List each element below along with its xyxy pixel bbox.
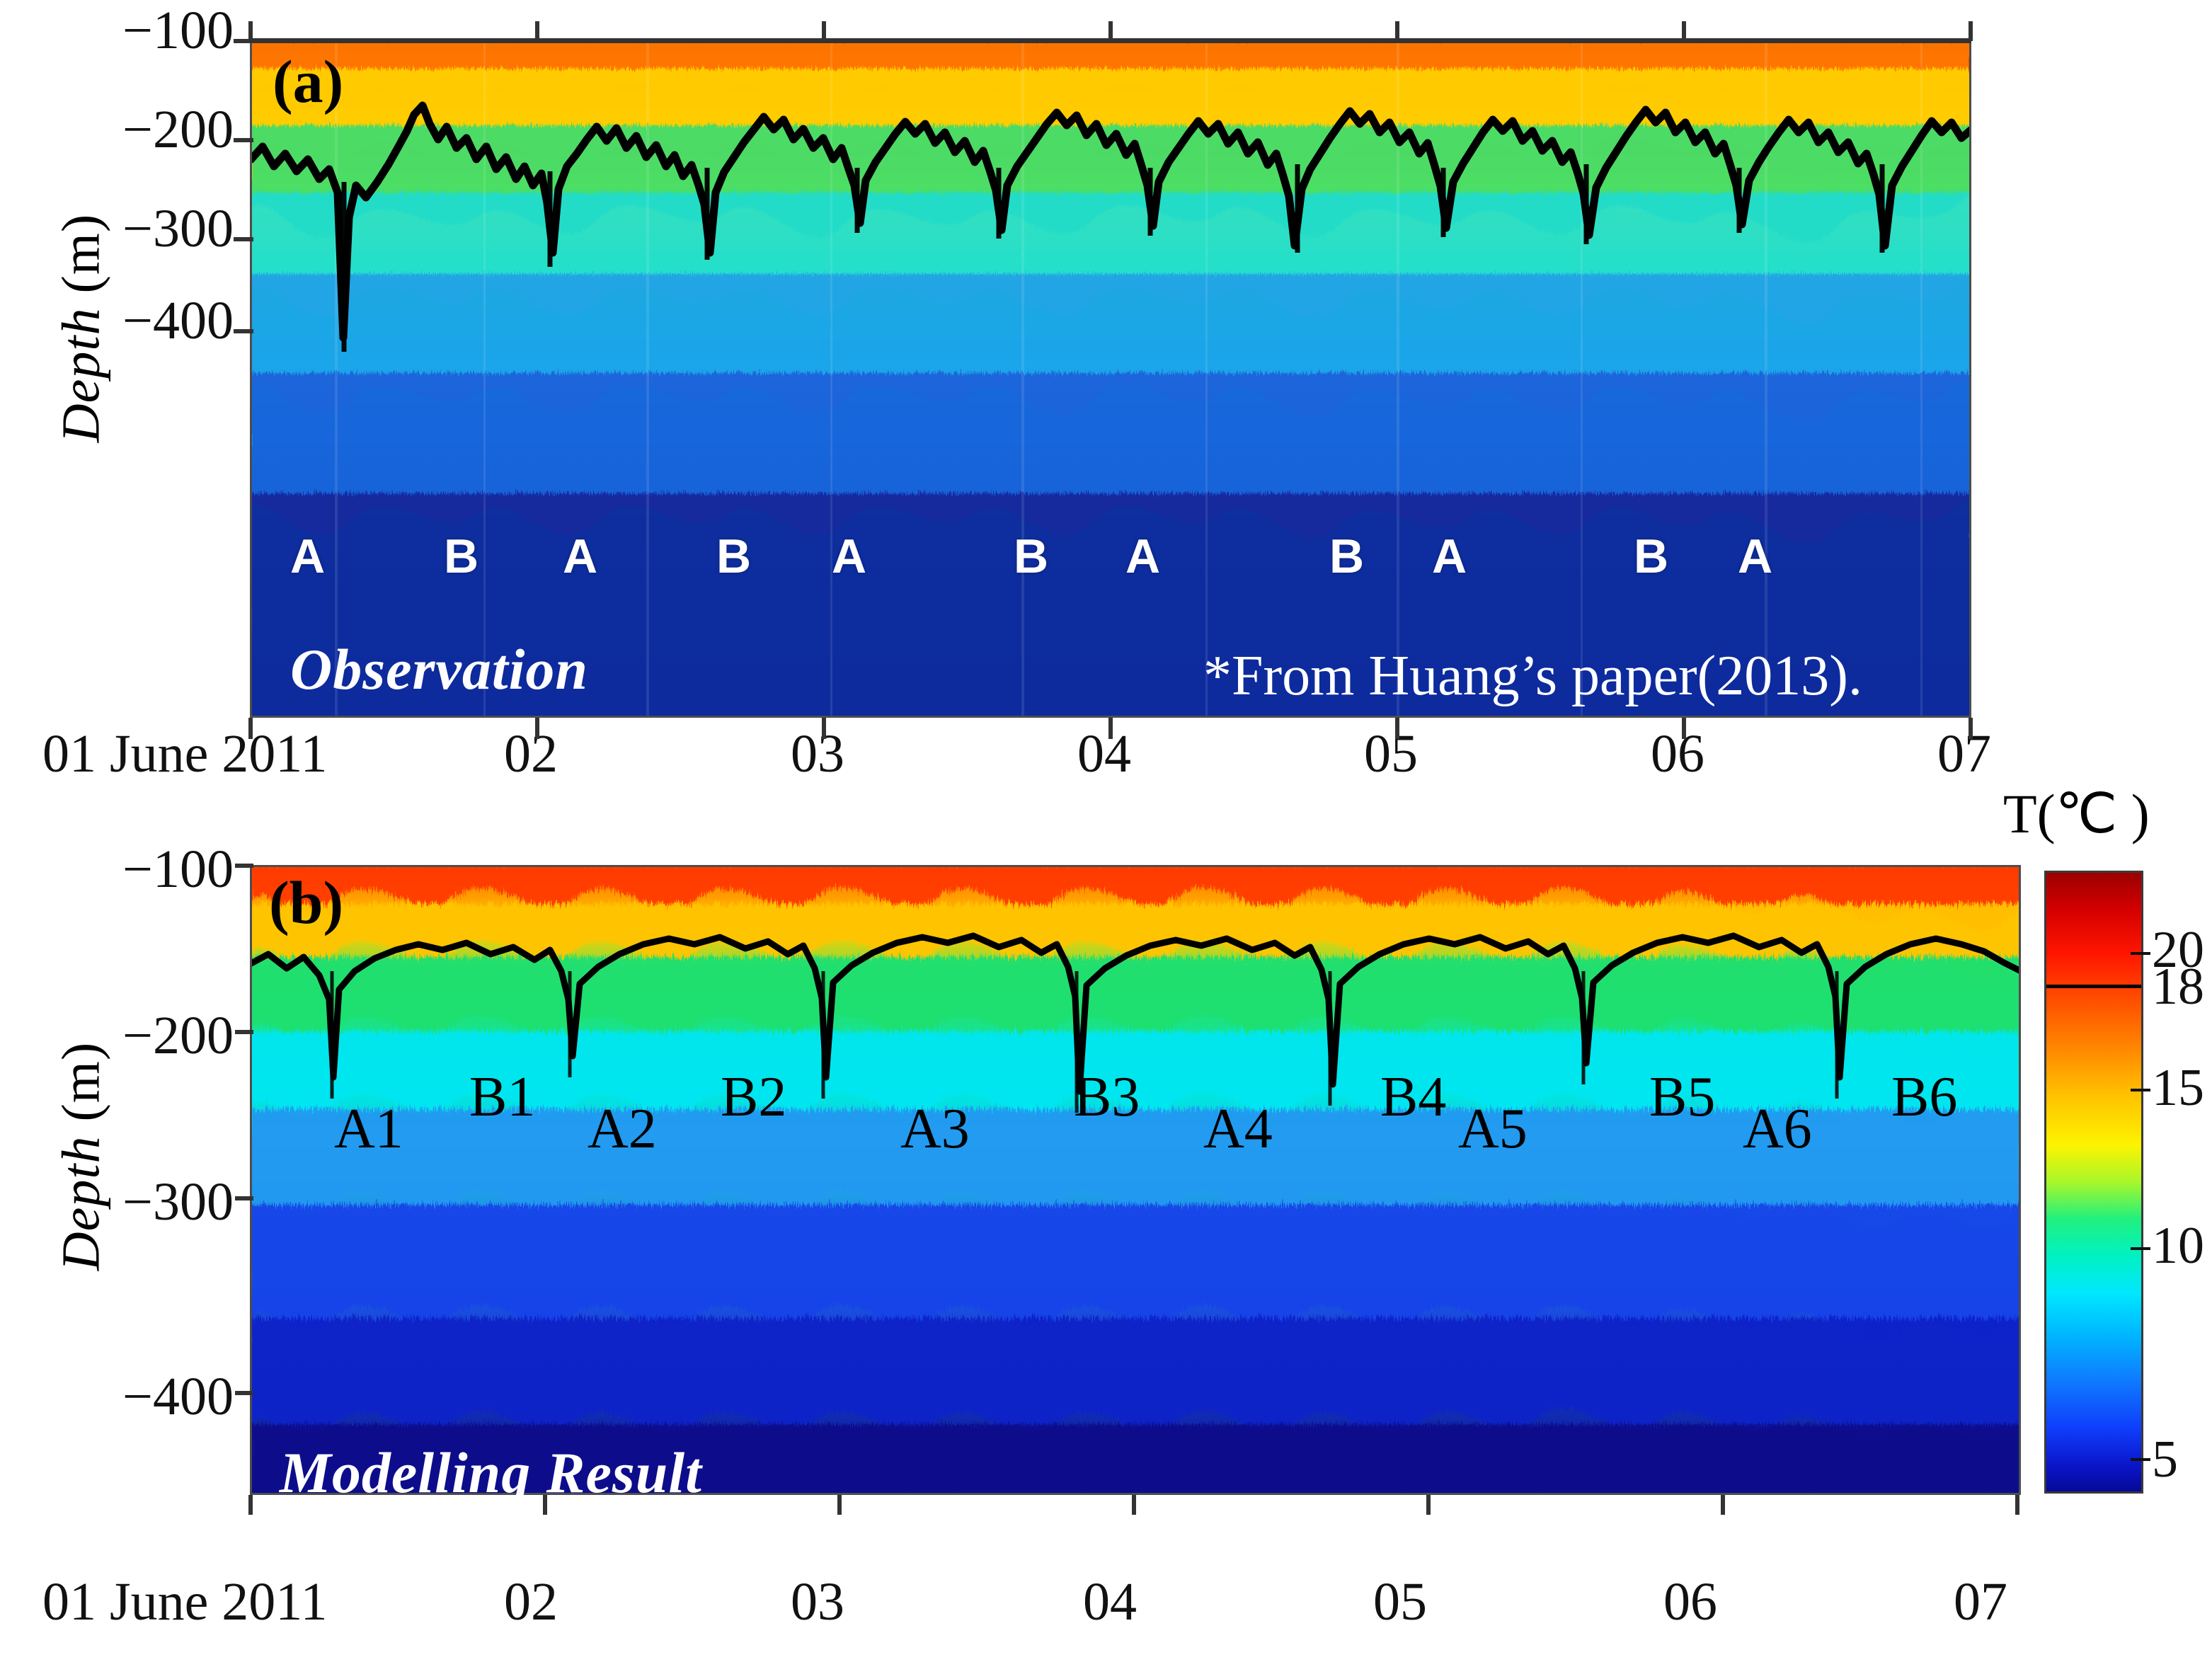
panel-b-xtick-0: 01 June 2011	[42, 1571, 328, 1633]
panel-b-event-label-a2: A2	[588, 1101, 657, 1157]
panel-a-xtick-2: 03	[791, 723, 844, 785]
panel-a-xtick-1: 02	[504, 723, 558, 785]
panel-a-bottom-tick-3	[1108, 718, 1113, 739]
colorbar-gradient	[2046, 873, 2141, 1491]
panel-b-bottom-tick-5	[1721, 1495, 1725, 1515]
panel-a-xtick-4: 05	[1364, 723, 1418, 785]
panel-b-xtick-3: 04	[1083, 1571, 1137, 1633]
panel-a-event-label-4: A	[832, 532, 866, 580]
figure-root: Depth (m) −100 −200 −300 −400	[0, 0, 2212, 1662]
panel-a-event-label-7: B	[1329, 532, 1364, 580]
panel-b-event-label-b6: B6	[1891, 1069, 1957, 1125]
panel-a-caption: Observation	[290, 641, 588, 699]
panel-b-ytick-100: −100	[21, 839, 234, 900]
panel-b-event-label-b5: B5	[1649, 1069, 1715, 1125]
colorbar-tick-mark-10	[2131, 1247, 2150, 1250]
panel-b-bottom-tick-6	[2015, 1495, 2019, 1515]
colorbar-tick-mark-20	[2131, 952, 2150, 955]
panel-a-bottom-tick-1	[535, 718, 539, 739]
panel-a-event-label-3: B	[716, 532, 751, 580]
panel-a-event-label-5: B	[1014, 532, 1048, 580]
panel-b-xtick-6: 07	[1954, 1571, 2007, 1633]
panel-a-event-label-2: A	[563, 532, 597, 580]
panel-a-ytick-mark-1	[234, 138, 253, 142]
panel-b-event-label-a4: A4	[1203, 1101, 1273, 1157]
panel-a-plot-area	[250, 40, 1971, 718]
panel-b-xtick-2: 03	[791, 1571, 844, 1633]
panel-b-ytick-200: −200	[21, 1005, 234, 1067]
panel-b-event-label-a3: A3	[900, 1101, 970, 1157]
colorbar-title: T(℃ )	[2003, 782, 2150, 846]
colorbar-label-18: 18	[2152, 957, 2204, 1017]
panel-a-bottom-tick-4	[1395, 718, 1399, 739]
panel-a-ytick-300: −300	[21, 198, 234, 260]
panel-b-ytick-300: −300	[21, 1171, 234, 1233]
panel-b-xtick-5: 06	[1663, 1571, 1717, 1633]
panel-b-xtick-4: 05	[1373, 1571, 1427, 1633]
panel-a-bottom-tick-6	[1969, 718, 1973, 739]
panel-a-top-tick-1	[535, 21, 539, 41]
panel-a-top-tick-5	[1682, 21, 1686, 41]
panel-a-event-label-0: A	[290, 532, 325, 580]
panel-b-event-label-a1: A1	[334, 1101, 403, 1157]
panel-b-caption: Modelling Result	[280, 1444, 702, 1502]
panel-b-plot-area	[250, 865, 2021, 1495]
panel-b-ytick-400: −400	[21, 1366, 234, 1428]
panel-b-ytick-mark-1	[235, 1030, 253, 1034]
panel-a-contour-svg	[250, 40, 1971, 718]
panel-a-top-tick-6	[1969, 21, 1973, 41]
panel-a-source-note: *From Huang’s paper(2013).	[1203, 648, 1862, 704]
panel-a-event-label-1: B	[444, 532, 478, 580]
colorbar-label-5: 5	[2152, 1430, 2178, 1490]
panel-a-ytick-mark-3	[234, 329, 253, 333]
colorbar-label-15: 15	[2152, 1058, 2204, 1118]
panel-b-ytick-mark-2	[235, 1196, 253, 1200]
panel-a-event-label-6: A	[1125, 532, 1160, 580]
colorbar-label-10: 10	[2152, 1216, 2204, 1276]
panel-b-event-label-b3: B3	[1074, 1069, 1140, 1125]
panel-b-bottom-tick-4	[1426, 1495, 1431, 1515]
colorbar-isoline-18	[2046, 985, 2141, 988]
panel-b-bottom-tick-0	[248, 1495, 253, 1515]
panel-a-bottom-tick-0	[248, 718, 253, 739]
panel-a-xtick-3: 04	[1077, 723, 1131, 785]
colorbar-tick-mark-15	[2131, 1089, 2150, 1091]
panel-a-ytick-200: −200	[21, 99, 234, 161]
panel-a-top-tick-3	[1108, 21, 1113, 41]
panel-b-tag: (b)	[269, 872, 343, 933]
panel-a-ytick-mark-2	[234, 237, 253, 241]
panel-b-ytick-mark-3	[235, 1391, 253, 1395]
panel-b-event-label-b2: B2	[721, 1069, 786, 1125]
panel-b-contour-bands	[250, 865, 2021, 1495]
panel-b-bottom-tick-1	[543, 1495, 547, 1515]
panel-b-event-label-b4: B4	[1380, 1069, 1446, 1125]
panel-a-bottom-tick-5	[1682, 718, 1686, 739]
panel-a-xtick-0: 01 June 2011	[42, 723, 328, 785]
panel-b-ytick-mark-0	[235, 864, 253, 868]
panel-b-event-label-b1: B1	[469, 1069, 535, 1125]
panel-b-event-label-a6: A6	[1743, 1101, 1812, 1157]
panel-a-event-label-9: B	[1634, 532, 1668, 580]
panel-b-bottom-tick-2	[837, 1495, 842, 1515]
panel-a-top-tick-4	[1395, 21, 1399, 41]
colorbar-tick-mark-5	[2131, 1458, 2150, 1461]
panel-a-bottom-tick-2	[822, 718, 826, 739]
panel-a-event-label-8: A	[1432, 532, 1467, 580]
panel-b-event-label-a5: A5	[1458, 1101, 1528, 1157]
panel-b-xtick-1: 02	[504, 1571, 558, 1633]
panel-a-ytick-mark-0	[234, 39, 253, 43]
panel-a-xtick-5: 06	[1651, 723, 1704, 785]
panel-b-bottom-tick-3	[1132, 1495, 1136, 1515]
colorbar	[2044, 871, 2143, 1494]
panel-b-contour-svg	[250, 865, 2021, 1495]
panel-a-top-tick-2	[822, 21, 826, 41]
panel-a-tag: (a)	[273, 51, 343, 112]
panel-a-ytick-400: −400	[21, 290, 234, 352]
panel-a-ytick-100: −100	[21, 0, 234, 62]
panel-a-top-tick-0	[248, 21, 253, 41]
panel-a-xtick-6: 07	[1937, 723, 1991, 785]
panel-a-event-label-10: A	[1738, 532, 1772, 580]
